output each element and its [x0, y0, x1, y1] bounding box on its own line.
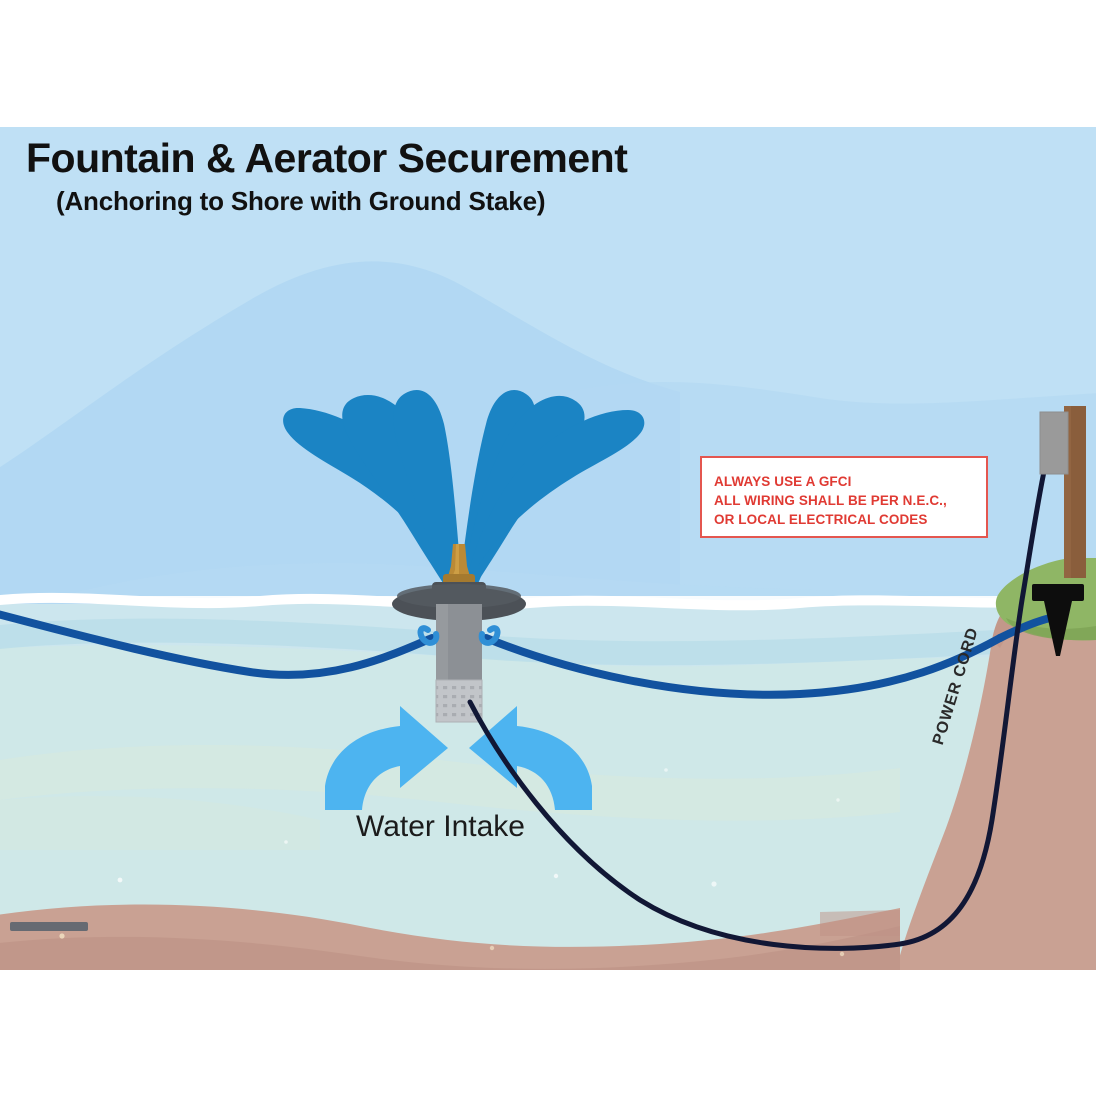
bed-object [10, 922, 88, 931]
sediment-speck [490, 946, 494, 950]
diagram-stage: Fountain & Aerator Securement (Anchoring… [0, 0, 1096, 1096]
gfci-outlet-box [1040, 412, 1068, 474]
water-intake-label: Water Intake [356, 810, 525, 844]
bubble [664, 768, 668, 772]
lakebed-step [820, 910, 900, 936]
bubble [118, 878, 123, 883]
warning-line-3: OR LOCAL ELECTRICAL CODES [714, 510, 986, 529]
bubble [836, 798, 839, 801]
warning-line-2: ALL WIRING SHALL BE PER N.E.C., [714, 491, 986, 510]
electrical-warning-box: ALWAYS USE A GFCI ALL WIRING SHALL BE PE… [700, 456, 988, 538]
sediment-speck [840, 952, 844, 956]
ground-stake-head [1032, 584, 1084, 601]
bubble [554, 874, 558, 878]
sediment-speck [59, 933, 64, 938]
water-surface-line [0, 596, 1096, 601]
bubble [711, 881, 716, 886]
warning-line-1: ALWAYS USE A GFCI [714, 472, 986, 491]
bubble [284, 840, 288, 844]
fountain-aerator-diagram [0, 0, 1096, 1096]
